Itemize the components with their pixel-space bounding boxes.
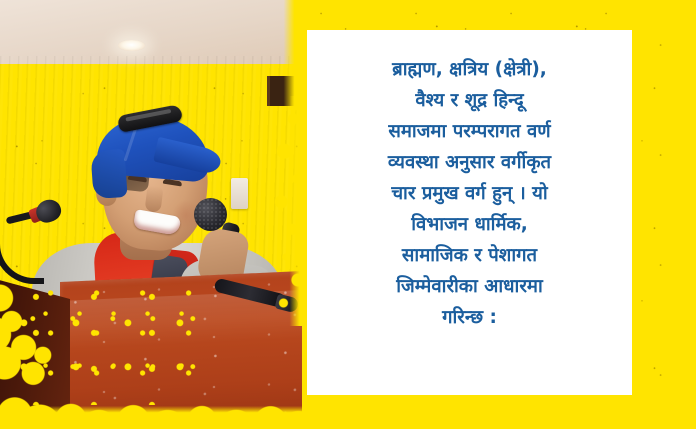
caption-line-2: वैश्य र शूद्र हिन्दू	[319, 85, 620, 116]
caption-line-7: सामाजिक र पेशागत	[319, 240, 620, 271]
caption-line-9: गरिन्छ :	[319, 302, 620, 333]
white-text-card: ब्राह्मण, क्षत्रिय (क्षेत्री), वैश्य र श…	[307, 30, 632, 395]
wooden-podium-side	[0, 280, 70, 429]
ceiling-light-icon	[118, 40, 145, 51]
ceiling	[0, 0, 302, 64]
wall-speaker-box	[267, 76, 300, 106]
speaker-photograph	[0, 0, 302, 429]
caption-line-4: व्यवस्था अनुसार वर्गीकृत	[319, 147, 620, 178]
caption-line-1: ब्राह्मण, क्षत्रिय (क्षेत्री),	[319, 54, 620, 85]
nepali-caption-text: ब्राह्मण, क्षत्रिय (क्षेत्री), वैश्य र श…	[319, 54, 620, 333]
caption-line-6: विभाजन धार्मिक,	[319, 209, 620, 240]
caption-line-8: जिम्मेवारीका आधारमा	[319, 271, 620, 302]
caption-line-5: चार प्रमुख वर्ग हुन् । यो	[319, 178, 620, 209]
caption-line-3: समाजमा परम्परागत वर्ण	[319, 116, 620, 147]
microphone-mesh-texture	[194, 198, 227, 231]
wall-switch-plate	[231, 178, 248, 209]
blue-cap-side	[90, 149, 127, 199]
image-canvas: ब्राह्मण, क्षत्रिय (क्षेत्री), वैश्य र श…	[0, 0, 696, 429]
